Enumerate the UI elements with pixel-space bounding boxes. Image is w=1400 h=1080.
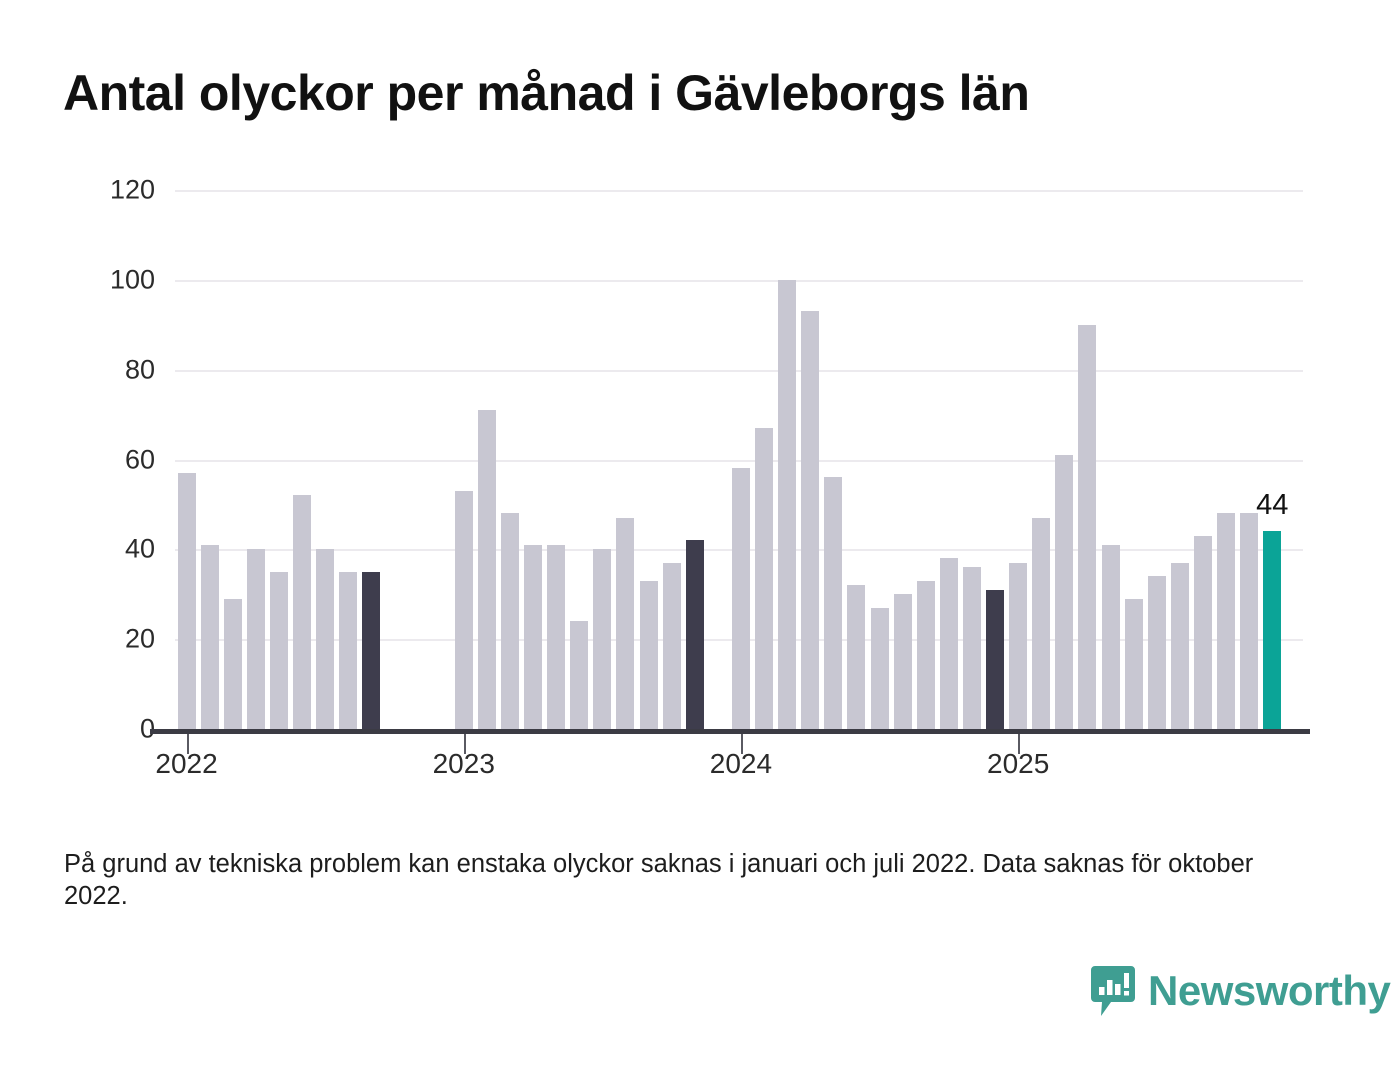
bar: [1009, 563, 1027, 729]
bar: [1102, 545, 1120, 729]
bar: [547, 545, 565, 729]
bar: [524, 545, 542, 729]
y-axis-tick-label: 80: [55, 354, 155, 385]
bar: [570, 621, 588, 729]
y-axis-tick-label: 40: [55, 534, 155, 565]
bar: [316, 549, 334, 729]
bar: [801, 311, 819, 729]
bar: [778, 280, 796, 729]
bar: [894, 594, 912, 729]
bar: [293, 495, 311, 729]
bar-chart-speech-bubble-icon: [1091, 966, 1135, 1016]
bar: [616, 518, 634, 729]
x-axis-tick-label: 2025: [987, 748, 1049, 780]
gridline: [175, 190, 1303, 192]
bar: [224, 599, 242, 729]
bar: [270, 572, 288, 729]
bar: [1194, 536, 1212, 729]
bar: [732, 468, 750, 729]
bar: [1171, 563, 1189, 729]
bar: [847, 585, 865, 729]
newsworthy-logo: Newsworthy: [1091, 966, 1390, 1016]
x-axis-tick-label: 2024: [710, 748, 772, 780]
bar: [1148, 576, 1166, 729]
y-axis-tick-label: 100: [55, 264, 155, 295]
gridline: [175, 370, 1303, 372]
bar: [178, 473, 196, 729]
gridline: [175, 460, 1303, 462]
logo-wordmark: Newsworthy: [1148, 967, 1390, 1015]
x-axis-tick-label: 2023: [433, 748, 495, 780]
bar: [1032, 518, 1050, 729]
bar: [1263, 531, 1281, 729]
bar: [663, 563, 681, 729]
bar: [640, 581, 658, 729]
y-axis-tick-label: 0: [55, 714, 155, 745]
footnote: På grund av tekniska problem kan enstaka…: [64, 848, 1289, 912]
bar: [362, 572, 380, 729]
bar: [755, 428, 773, 729]
bar: [478, 410, 496, 729]
y-axis-tick-label: 120: [55, 175, 155, 206]
bar-value-label: 44: [1256, 489, 1288, 522]
y-axis-tick-label: 20: [55, 624, 155, 655]
bar: [824, 477, 842, 729]
page-title: Antal olyckor per månad i Gävleborgs län: [63, 64, 1029, 122]
chart-page: Antal olyckor per månad i Gävleborgs län…: [0, 0, 1400, 1080]
bar: [963, 567, 981, 729]
x-axis-tick-label: 2022: [155, 748, 217, 780]
bar: [1055, 455, 1073, 729]
gridline: [175, 280, 1303, 282]
bar: [339, 572, 357, 729]
x-axis-line: [150, 729, 1310, 734]
bar: [686, 540, 704, 729]
bar: [247, 549, 265, 729]
bar: [501, 513, 519, 729]
bar: [1125, 599, 1143, 729]
bar: [1217, 513, 1235, 729]
bar: [986, 590, 1004, 729]
bar: [201, 545, 219, 729]
bar: [917, 581, 935, 729]
bar: [871, 608, 889, 729]
bar: [1240, 513, 1258, 729]
bar: [593, 549, 611, 729]
bar: [1078, 325, 1096, 729]
bar: [455, 491, 473, 729]
bar: [940, 558, 958, 729]
y-axis-tick-label: 60: [55, 444, 155, 475]
